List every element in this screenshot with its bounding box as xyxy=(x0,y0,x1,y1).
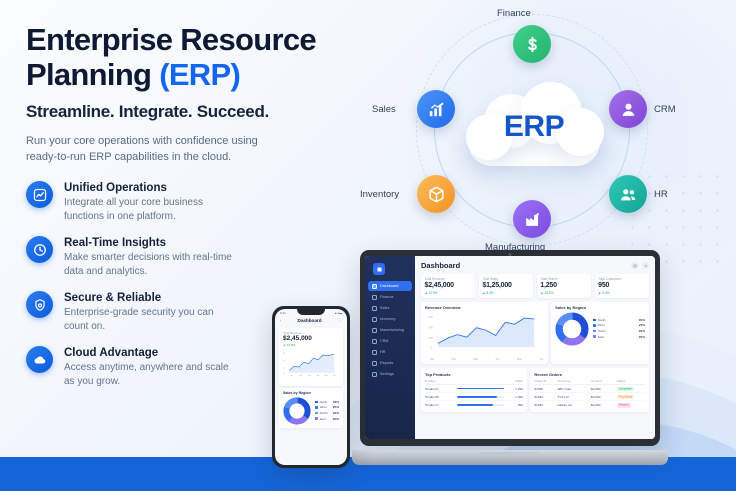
sidebar-item-label: Settings xyxy=(380,372,394,376)
phone-page-title: Dashboard xyxy=(298,318,322,323)
legend-item-east: East 20% xyxy=(315,417,339,421)
dashboard-main: Dashboard Total Rev xyxy=(415,256,655,439)
svg-text:200: 200 xyxy=(429,336,434,340)
users-icon xyxy=(619,185,638,204)
status-badge: Processing xyxy=(617,395,634,399)
status-badge: Completed xyxy=(617,387,634,391)
kpi-value: 1,250 xyxy=(540,282,587,289)
table-row: #1023 Globex Inc $2,800 Shipped xyxy=(534,401,645,408)
kpi-change: ▲ 15.2% xyxy=(540,291,587,295)
legend-item-west: West 25% xyxy=(315,405,339,409)
table-row: Product B 1,050 xyxy=(425,393,523,401)
laptop-lid: Dashboard Finance Sales Inventory Manufa… xyxy=(360,250,660,446)
erp-center-label: ERP xyxy=(464,110,604,144)
chart-title: Revenue Overview xyxy=(425,305,544,310)
phone-region-legend: North 35% West 25% South 20% xyxy=(315,400,339,422)
svg-text:20: 20 xyxy=(283,368,286,370)
svg-text:Apr: Apr xyxy=(317,374,320,377)
cell-product: Product A xyxy=(425,387,455,391)
chart-line-icon xyxy=(26,181,53,208)
column-header-customer: Customer xyxy=(557,379,591,383)
revenue-overview-chart: Revenue Overview 500 400 200 0 xyxy=(421,302,548,365)
legend-item-east: East 20% xyxy=(593,335,645,339)
table-row: Product A 1,250 xyxy=(425,385,523,393)
kpi-change: ▲ 12.5% xyxy=(425,291,472,295)
dashboard-page-title: Dashboard xyxy=(421,261,460,270)
kpi-label: Total Orders xyxy=(540,277,587,281)
phone-screen: 9:41 ▲●▬ ‹ Dashboard ⋮ Total Revenue $2,… xyxy=(275,309,347,465)
sidebar-item-finance[interactable]: Finance xyxy=(368,292,412,302)
phone-region-title: Sales by Region xyxy=(283,391,339,395)
sales-by-region-chart: Sales by Region xyxy=(551,302,649,365)
kpi-value: $1,25,000 xyxy=(482,282,529,289)
svg-text:500: 500 xyxy=(429,315,434,319)
recent-orders-table: Recent Orders Order ID Customer Amount S… xyxy=(530,368,649,412)
legend-value: 25% xyxy=(639,323,645,327)
legend-value: 20% xyxy=(639,329,645,333)
module-node-manufacturing[interactable] xyxy=(513,200,551,238)
feature-title: Cloud Advantage xyxy=(64,347,234,359)
cell-amount: $2,800 xyxy=(591,403,617,407)
kpi-card-total-orders: Total Orders 1,250 ▲ 15.2% xyxy=(537,274,591,298)
column-header-order-id: Order ID xyxy=(534,379,557,383)
column-header-product: Product xyxy=(425,379,456,383)
phone-revenue-card: Total Revenue $2,45,000 ▲ 12.5% 60 40 20… xyxy=(279,328,343,387)
cube-icon xyxy=(373,263,385,275)
factory-icon xyxy=(523,210,542,229)
legend-item-south: South 20% xyxy=(593,329,645,333)
laptop-mockup: Dashboard Finance Sales Inventory Manufa… xyxy=(352,250,668,465)
feature-title: Secure & Reliable xyxy=(64,292,234,304)
module-node-inventory[interactable] xyxy=(417,175,455,213)
kpi-label: Total Sales xyxy=(482,277,529,281)
cell-amount: $3,200 xyxy=(591,395,617,399)
module-label-crm: CRM xyxy=(654,104,676,115)
bar-chart-icon xyxy=(427,100,446,119)
column-header-amount: Amount xyxy=(591,379,617,383)
table-title: Recent Orders xyxy=(534,372,645,377)
sidebar-item-label: Reports xyxy=(380,361,393,365)
cell-customer: ABC Corp xyxy=(557,387,591,391)
cloud-icon xyxy=(26,346,53,373)
feature-description: Access anytime, anywhere and scale as yo… xyxy=(64,361,234,389)
kpi-label: Total Revenue xyxy=(425,277,472,281)
feature-description: Enterprise-grade security you can count … xyxy=(64,306,234,334)
kpi-value: $2,45,000 xyxy=(425,282,472,289)
feature-description: Integrate all your core business functio… xyxy=(64,196,234,224)
kpi-value: 950 xyxy=(598,282,645,289)
phone-revenue-change: ▲ 12.5% xyxy=(283,343,339,347)
chart-row: Revenue Overview 500 400 200 0 xyxy=(421,302,649,365)
feature-item-real-time-insights: Real-Time Insights Make smarter decision… xyxy=(26,236,356,279)
module-node-sales[interactable] xyxy=(417,90,455,128)
table-row: Product C 950 xyxy=(425,401,523,408)
module-label-hr: HR xyxy=(654,189,668,200)
chart-title: Sales by Region xyxy=(555,305,645,310)
phone-revenue-chart: 60 40 20 0 Jan Feb Mar Apr May Jun xyxy=(283,348,339,378)
legend-item-south: South 20% xyxy=(315,411,339,415)
sidebar-item-label: Manufacturing xyxy=(380,328,404,332)
svg-text:0: 0 xyxy=(430,346,432,350)
kpi-label: Total Customers xyxy=(598,277,645,281)
svg-text:Jan: Jan xyxy=(290,375,293,377)
svg-text:Mar: Mar xyxy=(308,375,312,377)
sidebar-item-label: Inventory xyxy=(380,317,396,321)
svg-text:Feb: Feb xyxy=(299,375,302,377)
legend-item-north: North 35% xyxy=(593,318,645,322)
sidebar-item-label: HR xyxy=(380,350,385,354)
cell-customer: XYZ Ltd xyxy=(557,395,591,399)
table-row: Top Products Product Sales Product A 1,2… xyxy=(421,368,649,412)
dashboard-screen: Dashboard Finance Sales Inventory Manufa… xyxy=(365,256,655,439)
legend-item-west: West 25% xyxy=(593,323,645,327)
cell-product: Product B xyxy=(425,395,455,399)
cell-amount: $4,500 xyxy=(591,387,617,391)
phone-app-bar: ‹ Dashboard ⋮ xyxy=(275,315,347,326)
kpi-card-total-customers: Total Customers 950 ▲ 5.4% xyxy=(595,274,649,298)
kpi-card-total-sales: Total Sales $1,25,000 ▲ 8.3% xyxy=(479,274,533,298)
region-donut-chart xyxy=(555,312,589,346)
cell-customer: Globex Inc xyxy=(557,403,591,407)
column-header-sales: Sales xyxy=(506,379,523,383)
module-label-sales: Sales xyxy=(372,104,396,115)
shield-lock-icon xyxy=(26,291,53,318)
feature-desc-line-1: Make smarter decisions with xyxy=(64,252,190,263)
phone-revenue-value: $2,45,000 xyxy=(283,335,339,342)
revenue-area-chart: 500 400 200 0 xyxy=(425,312,544,352)
kpi-change: ▲ 5.4% xyxy=(598,291,645,295)
dashboard-header: Dashboard xyxy=(421,261,649,270)
revenue-x-axis-labels: Jan Feb Mar Apr May Jun xyxy=(425,358,544,361)
svg-text:Jun: Jun xyxy=(333,375,336,377)
page-title: Enterprise Resource Planning (ERP) xyxy=(26,22,356,92)
dollar-icon xyxy=(523,35,542,54)
cell-sales: 950 xyxy=(506,403,523,407)
kpi-change: ▲ 8.3% xyxy=(482,291,529,295)
cell-sales: 1,050 xyxy=(506,395,523,399)
sidebar-item-manufacturing[interactable]: Manufacturing xyxy=(368,325,412,335)
region-legend: North 35% West 25% xyxy=(593,318,645,340)
sidebar-item-label: Finance xyxy=(380,295,394,299)
legend-value: 20% xyxy=(639,335,645,339)
headline-accent: (ERP) xyxy=(159,57,240,92)
settings-icon[interactable] xyxy=(642,262,649,269)
sidebar-item-dashboard[interactable]: Dashboard xyxy=(368,281,412,291)
svg-text:0: 0 xyxy=(284,372,286,374)
feature-desc-line-1: Enterprise-grade security xyxy=(64,307,176,318)
feature-desc-line-1: Access anytime, anywhere and xyxy=(64,362,202,373)
headline-line-2: Planning xyxy=(26,57,159,92)
erp-cloud-shape: ERP xyxy=(464,80,604,172)
webcam-icon xyxy=(509,253,512,256)
kpi-card-total-revenue: Total Revenue $2,45,000 ▲ 12.5% xyxy=(421,274,475,298)
module-label-inventory: Inventory xyxy=(360,189,399,200)
feature-desc-line-2: functions in one platform. xyxy=(64,211,176,222)
box-icon xyxy=(427,185,446,204)
status-indicators-icon: ▲●▬ xyxy=(334,311,342,315)
table-row: #1024 XYZ Ltd $3,200 Processing xyxy=(534,393,645,401)
sidebar-item-settings[interactable]: Settings xyxy=(368,369,412,379)
cell-product: Product C xyxy=(425,403,455,407)
sidebar-item-inventory[interactable]: Inventory xyxy=(368,314,412,324)
laptop-trackpad-notch xyxy=(481,452,539,456)
phone-region-card: Sales by Region North 35% xyxy=(279,388,343,428)
sidebar-item-crm[interactable]: CRM xyxy=(368,336,412,346)
module-node-finance[interactable] xyxy=(513,25,551,63)
svg-text:400: 400 xyxy=(429,326,434,330)
phone-region-donut xyxy=(283,397,311,425)
sidebar-item-label: Dashboard xyxy=(380,284,398,288)
erp-module-diagram: ERP Finance CRM HR xyxy=(356,4,728,254)
phone-notch xyxy=(297,309,325,315)
sidebar-item-label: Sales xyxy=(380,306,390,310)
cell-order-id: #1024 xyxy=(534,395,557,399)
module-node-crm[interactable] xyxy=(609,90,647,128)
dashboard-sidebar: Dashboard Finance Sales Inventory Manufa… xyxy=(365,256,415,439)
table-title: Top Products xyxy=(425,372,523,377)
clock-icon xyxy=(26,236,53,263)
feature-title: Real-Time Insights xyxy=(64,237,234,249)
column-header-status: Status xyxy=(617,379,645,383)
svg-text:40: 40 xyxy=(283,360,286,362)
hero-description-line-1: Run your core operations with confidence… xyxy=(26,135,258,147)
kpi-card-row: Total Revenue $2,45,000 ▲ 12.5% Total Sa… xyxy=(421,274,649,298)
phone-mockup: 9:41 ▲●▬ ‹ Dashboard ⋮ Total Revenue $2,… xyxy=(272,306,350,468)
cell-sales: 1,250 xyxy=(506,387,523,391)
feature-desc-line-1: Integrate all your core business xyxy=(64,197,203,208)
sidebar-item-hr[interactable]: HR xyxy=(368,347,412,357)
feature-title: Unified Operations xyxy=(64,182,234,194)
svg-text:60: 60 xyxy=(283,353,286,355)
cell-order-id: #1025 xyxy=(534,387,557,391)
top-products-table: Top Products Product Sales Product A 1,2… xyxy=(421,368,527,412)
svg-text:May: May xyxy=(325,375,329,377)
user-icon xyxy=(619,100,638,119)
sidebar-item-label: CRM xyxy=(380,339,388,343)
refresh-icon[interactable] xyxy=(631,262,638,269)
hero-description: Run your core operations with confidence… xyxy=(26,133,284,165)
table-row: #1025 ABC Corp $4,500 Completed xyxy=(534,385,645,393)
sidebar-item-reports[interactable]: Reports xyxy=(368,358,412,368)
module-node-hr[interactable] xyxy=(609,175,647,213)
subheadline: Streamline. Integrate. Succeed. xyxy=(26,102,356,122)
module-label-finance: Finance xyxy=(497,8,531,19)
feature-description: Make smarter decisions with real-time da… xyxy=(64,251,234,279)
poster-canvas: Enterprise Resource Planning (ERP) Strea… xyxy=(0,0,736,491)
sidebar-item-sales[interactable]: Sales xyxy=(368,303,412,313)
chevron-left-icon[interactable]: ‹ xyxy=(280,318,282,323)
status-badge: Shipped xyxy=(617,403,631,407)
headline-line-1: Enterprise Resource xyxy=(26,22,316,57)
legend-value: 35% xyxy=(639,318,645,322)
feature-item-unified-operations: Unified Operations Integrate all your co… xyxy=(26,181,356,224)
status-time: 9:41 xyxy=(280,311,286,315)
kebab-menu-icon[interactable]: ⋮ xyxy=(338,318,343,324)
cell-order-id: #1023 xyxy=(534,403,557,407)
hero-description-line-2: ready-to-run ERP capabilities in the clo… xyxy=(26,151,231,163)
legend-item-north: North 35% xyxy=(315,400,339,404)
phone-revenue-label: Total Revenue xyxy=(283,331,339,335)
